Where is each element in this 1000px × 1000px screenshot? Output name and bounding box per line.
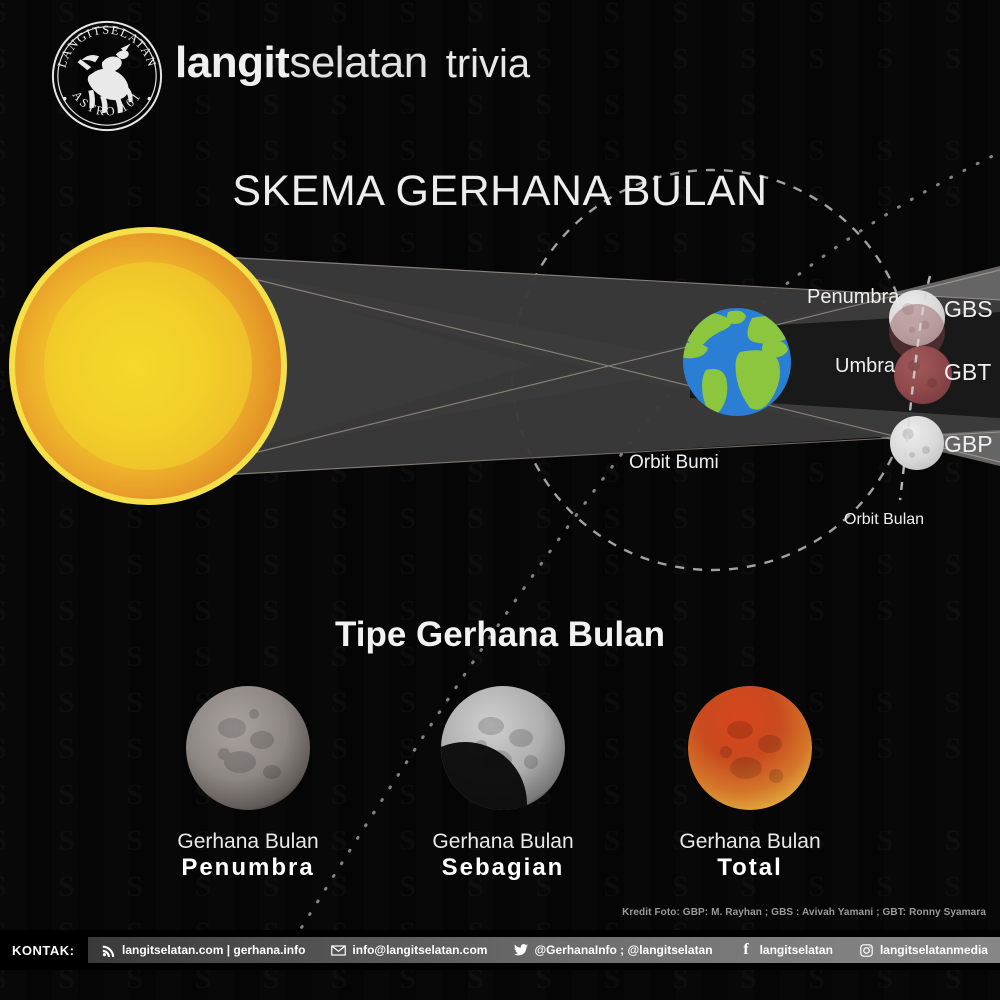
sun (12, 230, 284, 502)
brand-suffix: trivia (446, 42, 530, 86)
photo-credit: Kredit Foto: GBP: M. Rayhan ; GBS : Aviv… (622, 907, 986, 918)
rss-icon (101, 943, 116, 958)
brand-light: selatan (289, 38, 427, 87)
label-gbt: GBT (944, 359, 991, 386)
facebook-icon: f (739, 943, 754, 958)
card-caption-top: Gerhana Bulan (118, 830, 378, 854)
contact-items: langitselatan.com | gerhana.info info@la… (88, 937, 1000, 963)
contact-item-text: langitselatanmedia (880, 943, 988, 957)
eclipse-type-card-penumbra: Gerhana Bulan Penumbra (118, 680, 378, 883)
label-orbit-bumi: Orbit Bumi (629, 452, 719, 474)
contact-item-email[interactable]: info@langitselatan.com (318, 943, 500, 958)
total-moon-photo (682, 680, 818, 816)
penumbral-moon-photo (180, 680, 316, 816)
moon-gbp (890, 416, 944, 470)
contact-item-text: info@langitselatan.com (352, 943, 487, 957)
label-umbra: Umbra (835, 355, 895, 378)
contact-item-text: langitselatan.com | gerhana.info (122, 943, 305, 957)
twitter-icon (513, 943, 528, 958)
card-caption-bottom: Sebagian (373, 854, 633, 883)
contact-item-instagram[interactable]: langitselatanmedia (846, 943, 1000, 958)
contact-item-facebook[interactable]: f langitselatan (726, 943, 846, 958)
contact-item-text: @GerhanaInfo ; @langitselatan (534, 943, 712, 957)
partial-moon-photo (435, 680, 571, 816)
email-icon (331, 943, 346, 958)
section-title-types: Tipe Gerhana Bulan (0, 615, 1000, 655)
card-caption-bottom: Total (620, 854, 880, 883)
contact-item-website[interactable]: langitselatan.com | gerhana.info (88, 943, 318, 958)
label-orbit-bulan: Orbit Bulan (844, 511, 924, 529)
label-penumbra: Penumbra (807, 286, 899, 309)
contact-label: KONTAK: (0, 943, 88, 958)
instagram-icon (859, 943, 874, 958)
page-title: SKEMA GERHANA BULAN (0, 167, 1000, 216)
eclipse-type-card-total: Gerhana Bulan Total (620, 680, 880, 883)
card-caption-top: Gerhana Bulan (373, 830, 633, 854)
contact-item-text: langitselatan (760, 943, 833, 957)
langitselatan-logo: LANGITSELATAN ASTRO 101 (48, 17, 166, 135)
contact-bar: KONTAK: langitselatan.com | gerhana.info (0, 930, 1000, 970)
card-caption-top: Gerhana Bulan (620, 830, 880, 854)
page-header: LANGITSELATAN ASTRO 101 langit (0, 0, 1000, 140)
label-gbp: GBP (944, 431, 993, 458)
brand-wordmark: langitselatantrivia (175, 38, 530, 98)
eclipse-type-card-partial: Gerhana Bulan Sebagian (373, 680, 633, 883)
label-gbs: GBS (944, 296, 993, 323)
contact-item-twitter[interactable]: @GerhanaInfo ; @langitselatan (500, 943, 725, 958)
card-caption-bottom: Penumbra (118, 854, 378, 883)
brand-bold: langit (175, 38, 289, 87)
infographic-page: S S S S S S S S S S S S S S S S S S S S … (0, 0, 1000, 1000)
